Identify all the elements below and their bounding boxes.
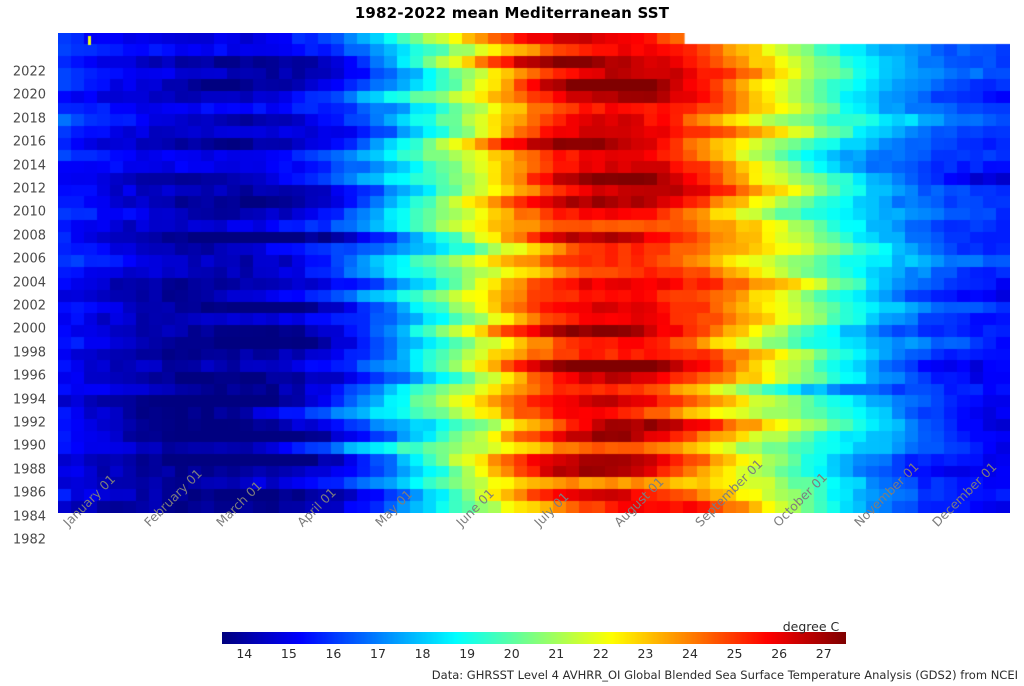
colorbar-tick-18: 18 (415, 646, 431, 661)
colorbar-unit-label: degree C (783, 619, 840, 634)
y-axis-tick-2004: 2004 (13, 275, 46, 290)
y-axis-tick-1992: 1992 (13, 416, 46, 431)
heatmap-plot-area (58, 33, 1010, 513)
colorbar-tick-22: 22 (593, 646, 609, 661)
heatmap-canvas (58, 33, 1010, 513)
y-axis-tick-1998: 1998 (13, 345, 46, 360)
colorbar (222, 632, 846, 644)
colorbar-tick-26: 26 (771, 646, 787, 661)
x-axis-tick-labels: January 01February 01March 01April 01May… (0, 513, 1024, 613)
colorbar-tick-21: 21 (548, 646, 564, 661)
y-axis-tick-1986: 1986 (13, 486, 46, 501)
data-source-caption: Data: GHRSST Level 4 AVHRR_OI Global Ble… (432, 668, 1018, 682)
colorbar-tick-16: 16 (325, 646, 341, 661)
colorbar-tick-25: 25 (727, 646, 743, 661)
y-axis-tick-2016: 2016 (13, 135, 46, 150)
y-axis-tick-2008: 2008 (13, 228, 46, 243)
colorbar-tick-23: 23 (637, 646, 653, 661)
y-axis-tick-2000: 2000 (13, 322, 46, 337)
colorbar-tick-labels: 1415161718192021222324252627 (0, 646, 1024, 664)
y-axis-tick-1988: 1988 (13, 462, 46, 477)
y-axis-tick-2018: 2018 (13, 111, 46, 126)
y-axis-tick-2014: 2014 (13, 158, 46, 173)
y-axis-tick-1996: 1996 (13, 369, 46, 384)
colorbar-tick-20: 20 (504, 646, 520, 661)
y-axis-tick-2012: 2012 (13, 181, 46, 196)
colorbar-tick-24: 24 (682, 646, 698, 661)
colorbar-gradient (222, 632, 846, 644)
y-axis-tick-2006: 2006 (13, 252, 46, 267)
colorbar-tick-14: 14 (236, 646, 252, 661)
colorbar-tick-27: 27 (816, 646, 832, 661)
y-axis-tick-2020: 2020 (13, 88, 46, 103)
colorbar-tick-19: 19 (459, 646, 475, 661)
colorbar-tick-17: 17 (370, 646, 386, 661)
y-axis-tick-2002: 2002 (13, 299, 46, 314)
page-title: 1982-2022 mean Mediterranean SST (0, 4, 1024, 22)
y-axis-tick-1994: 1994 (13, 392, 46, 407)
y-axis-tick-1990: 1990 (13, 439, 46, 454)
colorbar-tick-15: 15 (281, 646, 297, 661)
y-axis-tick-labels: 2022202020182016201420122010200820062004… (0, 33, 52, 513)
y-axis-tick-2010: 2010 (13, 205, 46, 220)
y-axis-tick-2022: 2022 (13, 64, 46, 79)
